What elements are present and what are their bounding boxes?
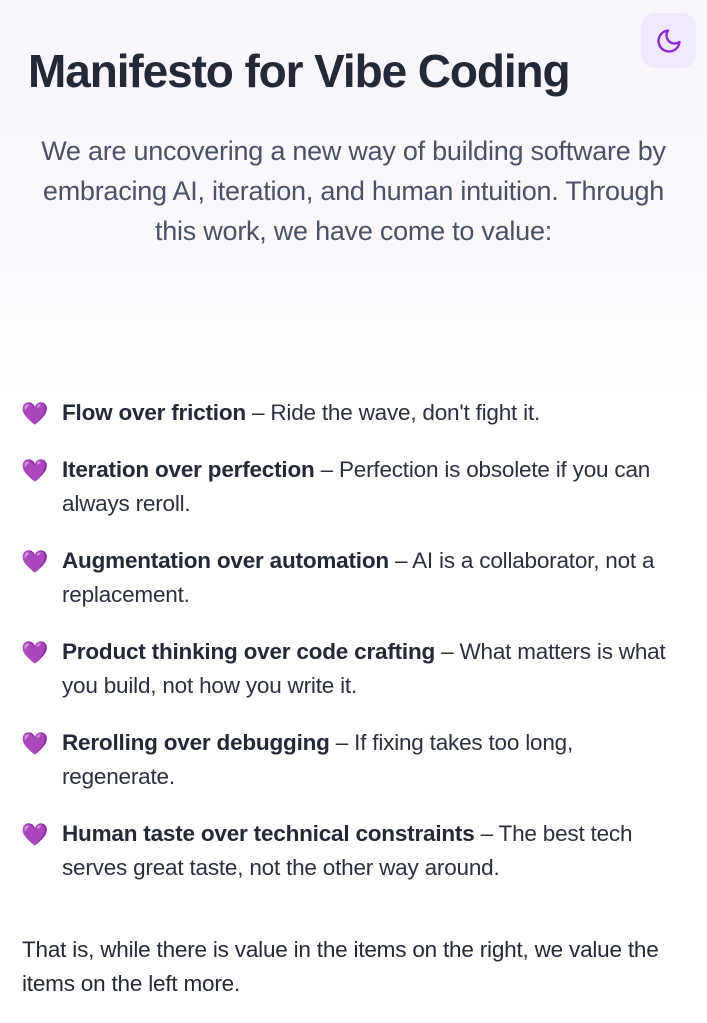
value-separator: – [475, 821, 499, 846]
value-description: Ride the wave, don't fight it. [270, 400, 540, 425]
value-separator: – [330, 730, 354, 755]
value-term: Augmentation over automation [62, 548, 389, 573]
dark-mode-toggle-button[interactable] [641, 13, 696, 68]
purple-heart-icon: 💜 [21, 545, 49, 579]
value-list-item: 💜Iteration over perfection – Perfection … [0, 453, 707, 521]
value-separator: – [389, 548, 412, 573]
value-separator: – [435, 639, 459, 664]
page-subtitle: We are uncovering a new way of building … [26, 131, 681, 251]
closing-statement: That is, while there is value in the ite… [22, 933, 662, 1001]
value-list-item: 💜Augmentation over automation – AI is a … [0, 544, 707, 612]
value-term: Product thinking over code crafting [62, 639, 435, 664]
value-list-item: 💜Product thinking over code crafting – W… [0, 635, 707, 703]
value-term: Iteration over perfection [62, 457, 315, 482]
page-title: Manifesto for Vibe Coding [28, 47, 707, 97]
value-list-item: 💜Rerolling over debugging – If fixing ta… [0, 726, 707, 794]
moon-icon [655, 27, 683, 55]
value-term: Rerolling over debugging [62, 730, 330, 755]
purple-heart-icon: 💜 [21, 727, 49, 761]
value-term: Human taste over technical constraints [62, 821, 475, 846]
values-list: 💜Flow over friction – Ride the wave, don… [0, 396, 707, 908]
purple-heart-icon: 💜 [21, 397, 49, 431]
manifesto-page: Manifesto for Vibe Coding We are uncover… [0, 0, 707, 1023]
value-list-item: 💜Human taste over technical constraints … [0, 817, 707, 885]
value-term: Flow over friction [62, 400, 246, 425]
purple-heart-icon: 💜 [21, 818, 49, 852]
purple-heart-icon: 💜 [21, 454, 49, 488]
purple-heart-icon: 💜 [21, 636, 49, 670]
value-separator: – [315, 457, 339, 482]
value-list-item: 💜Flow over friction – Ride the wave, don… [0, 396, 707, 430]
value-separator: – [246, 400, 270, 425]
